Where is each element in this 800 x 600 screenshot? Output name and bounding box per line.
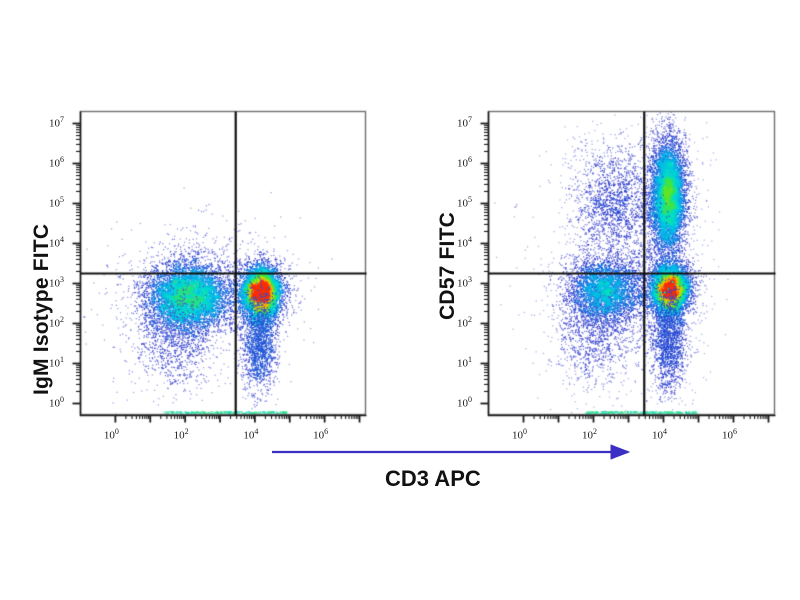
right-plot-dot-canvas — [400, 95, 800, 435]
y-tick-label: 103 — [49, 275, 64, 290]
y-tick-label: 107 — [49, 115, 64, 130]
x-tick-label: 106 — [722, 427, 737, 442]
y-tick-label: 106 — [49, 155, 64, 170]
y-tick-label: 101 — [457, 355, 472, 370]
x-tick-label: 100 — [512, 427, 527, 442]
y-tick-label: 105 — [457, 195, 472, 210]
x-tick-label: 106 — [313, 427, 328, 442]
x-tick-label: 102 — [174, 427, 189, 442]
shared-x-axis-label: CD3 APC — [385, 466, 481, 492]
y-tick-label: 105 — [49, 195, 64, 210]
x-tick-label: 104 — [243, 427, 258, 442]
x-tick-label: 104 — [652, 427, 667, 442]
y-tick-label: 100 — [49, 395, 64, 410]
y-tick-label: 106 — [457, 155, 472, 170]
x-tick-label: 100 — [104, 427, 119, 442]
y-tick-label: 102 — [49, 315, 64, 330]
y-tick-label: 101 — [49, 355, 64, 370]
y-tick-label: 103 — [457, 275, 472, 290]
y-tick-label: 102 — [457, 315, 472, 330]
y-tick-label: 107 — [457, 115, 472, 130]
igm-isotype-control-plot: IgM Isotype FITC 10010110210310410510610… — [0, 95, 400, 435]
cd57-stained-plot: CD57 FITC 100101102103104105106107100102… — [400, 95, 800, 435]
y-tick-label: 100 — [457, 395, 472, 410]
y-tick-label: 104 — [49, 235, 64, 250]
right-plot-y-axis-label: CD57 FITC — [436, 212, 460, 320]
x-tick-label: 102 — [582, 427, 597, 442]
left-plot-dot-canvas — [0, 95, 400, 435]
y-tick-label: 104 — [457, 235, 472, 250]
flow-cytometry-figure: IgM Isotype FITC 10010110210310410510610… — [0, 0, 800, 600]
